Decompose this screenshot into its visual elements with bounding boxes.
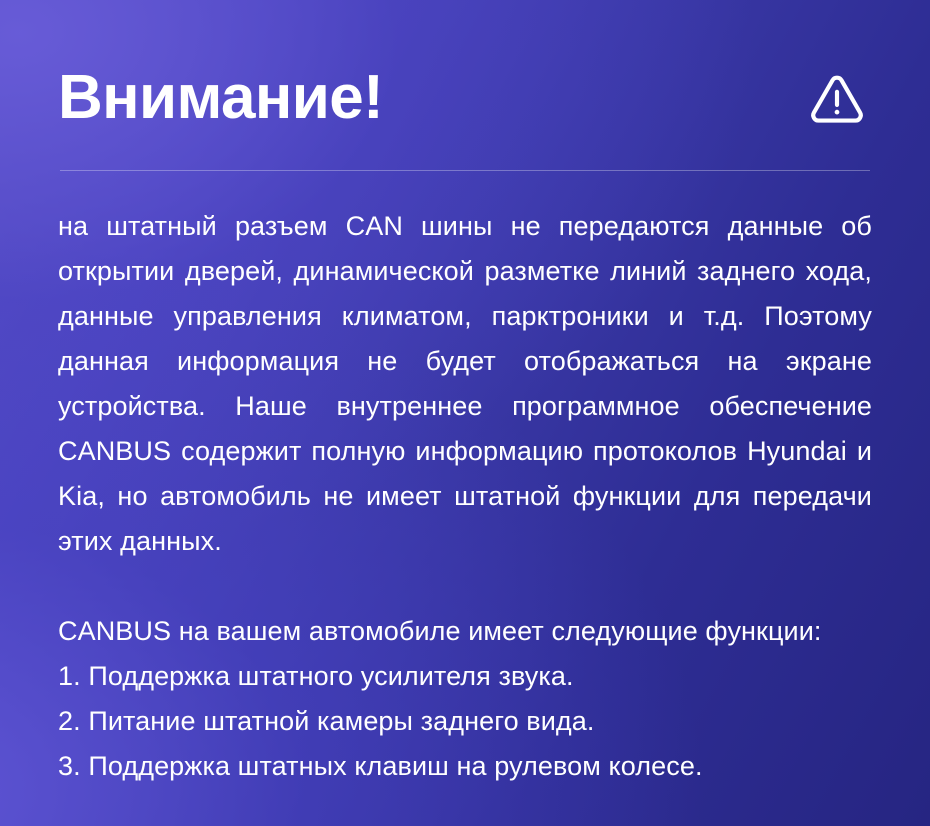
- warning-icon-wrapper: [808, 69, 872, 127]
- features-intro: CANBUS на вашем автомобиле имеет следующ…: [58, 609, 872, 654]
- warning-triangle-icon: [808, 69, 866, 127]
- list-item-number: 1.: [58, 661, 81, 691]
- content-container: Внимание! на штатный разъем CAN шины не …: [58, 0, 872, 826]
- list-item-number: 3.: [58, 751, 81, 781]
- body-block: на штатный разъем CAN шины не передаются…: [58, 204, 872, 789]
- feature-list: 1. Поддержка штатного усилителя звука. 2…: [58, 654, 872, 789]
- list-item-number: 2.: [58, 706, 81, 736]
- list-item: 2. Питание штатной камеры заднего вида.: [58, 699, 872, 744]
- warning-notice-screen: Внимание! на штатный разъем CAN шины не …: [0, 0, 930, 826]
- header-divider: [60, 170, 870, 171]
- page-title: Внимание!: [58, 67, 383, 129]
- list-item: 1. Поддержка штатного усилителя звука.: [58, 654, 872, 699]
- list-item-label: Поддержка штатного усилителя звука.: [88, 661, 573, 691]
- list-item-label: Поддержка штатных клавиш на рулевом коле…: [88, 751, 702, 781]
- list-item: 3. Поддержка штатных клавиш на рулевом к…: [58, 744, 872, 789]
- list-item-label: Питание штатной камеры заднего вида.: [88, 706, 594, 736]
- header: Внимание!: [58, 52, 872, 144]
- lead-paragraph: на штатный разъем CAN шины не передаются…: [58, 204, 872, 564]
